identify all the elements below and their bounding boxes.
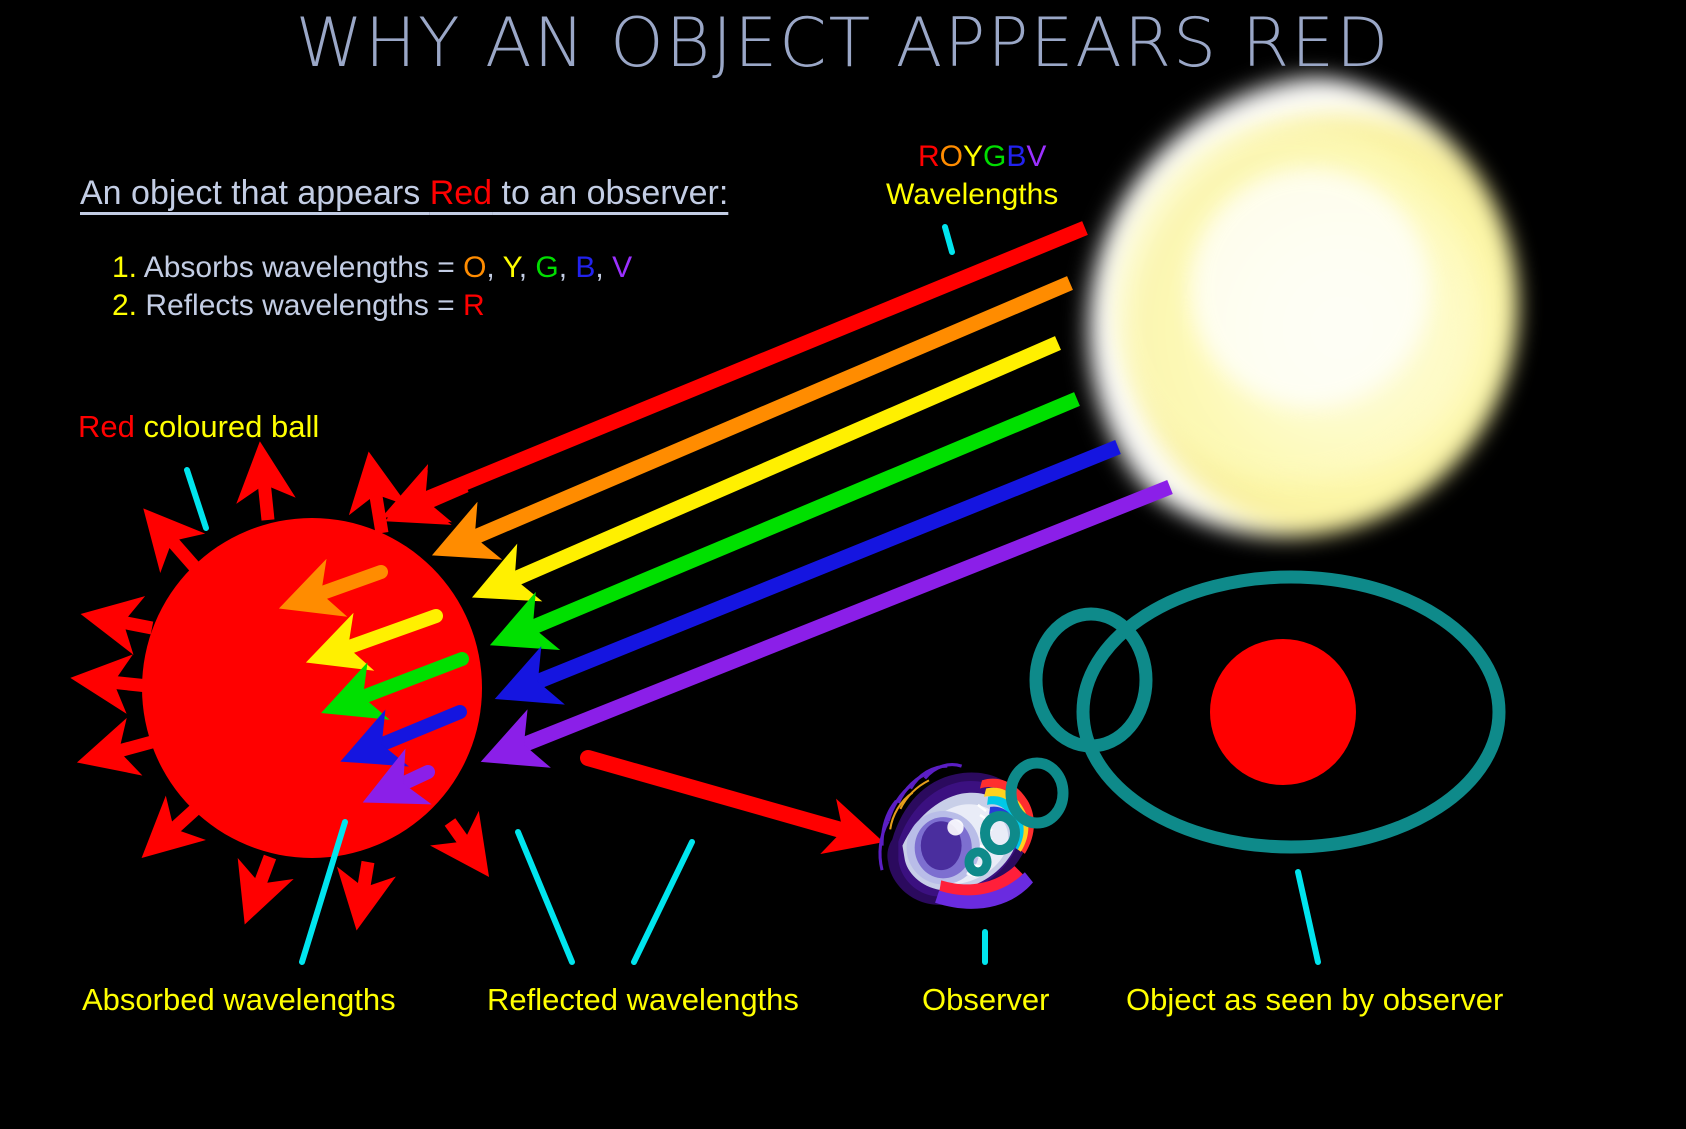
leader-ball-label	[187, 470, 206, 528]
reflected-arrow	[157, 805, 200, 844]
spectrum-letter-g: G	[983, 140, 1006, 173]
spectrum-letter-r: R	[918, 140, 940, 173]
reflected-arrow	[262, 462, 268, 520]
reflects-letter-r: R	[463, 289, 485, 322]
infographic-canvas: WHY AN OBJECT APPEARS RED An object that…	[0, 0, 1686, 1129]
reflected-arrow	[450, 822, 477, 860]
leader-reflected-right	[634, 842, 692, 962]
absorbs-letter-o: O	[463, 251, 486, 284]
spectrum-letter-o: O	[940, 140, 963, 173]
red-ball-label: Red coloured ball	[78, 411, 319, 442]
perceived-red-object	[1210, 639, 1356, 785]
label-object-as-seen: Object as seen by observer	[1126, 984, 1503, 1015]
spectrum-label: ROYGBV	[918, 142, 1046, 172]
list-number-1: 1.	[112, 251, 137, 284]
diagram-artwork	[0, 0, 1686, 1129]
wavelengths-label: Wavelengths	[886, 180, 1058, 210]
label-observer: Observer	[922, 984, 1049, 1015]
page-title: WHY AN OBJECT APPEARS RED	[0, 10, 1686, 78]
leader-roygbv-label	[945, 227, 952, 252]
reflected-arrow	[97, 742, 152, 757]
heading-prefix: An object that appears	[80, 174, 430, 212]
list-text-1: Absorbs wavelengths =	[144, 251, 463, 284]
reflected-arrow	[372, 472, 382, 533]
reflected-arrow	[91, 680, 148, 686]
reflected-arrow	[360, 862, 368, 910]
absorbs-letter-g: G	[535, 251, 558, 284]
label-reflected-wavelengths: Reflected wavelengths	[487, 984, 799, 1015]
absorbs-letter-y: Y	[503, 251, 519, 284]
reflected-arrow	[157, 524, 200, 573]
spectrum-letter-v: V	[1026, 140, 1046, 173]
list-text-2: Reflects wavelengths =	[145, 289, 463, 322]
reflected-red-to-observer-arrow	[588, 758, 862, 836]
sun-light-source	[1054, 73, 1518, 537]
reflected-arrow	[252, 857, 270, 905]
ball-label-rest: coloured ball	[135, 409, 319, 444]
explanation-heading: An object that appears Red to an observe…	[80, 176, 728, 210]
spectrum-letter-y: Y	[963, 140, 983, 173]
absorbs-letter-v: V	[612, 251, 632, 284]
explanation-item-reflects: 2. Reflects wavelengths = R	[112, 291, 485, 321]
yellow-beam	[494, 343, 1058, 588]
list-number-2: 2.	[112, 289, 137, 322]
heading-highlight-red: Red	[430, 174, 492, 212]
absorbs-letter-b: B	[575, 251, 595, 284]
label-absorbed-wavelengths: Absorbed wavelengths	[82, 984, 396, 1015]
reflected-arrow	[101, 618, 152, 628]
leader-object-seen	[1298, 872, 1318, 962]
leader-reflected-left	[518, 832, 572, 962]
explanation-item-absorbs: 1. Absorbs wavelengths = O, Y, G, B, V	[112, 253, 632, 283]
ball-label-red: Red	[78, 409, 135, 444]
spectrum-letter-b: B	[1006, 140, 1026, 173]
heading-suffix: to an observer:	[492, 174, 728, 212]
